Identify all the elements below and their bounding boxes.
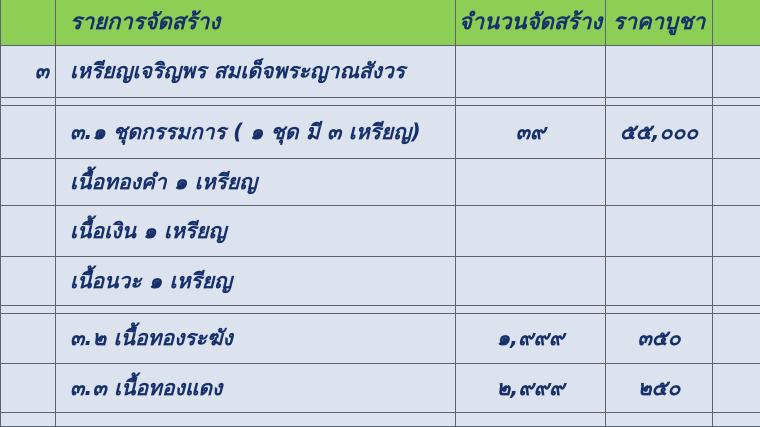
cell-no	[1, 257, 56, 306]
cell-price	[606, 257, 713, 306]
cell-quantity	[456, 98, 606, 106]
table-row: ๓.๒ เนื้อทองระฆัง ๑,๙๙๙ ๓๕๐	[1, 314, 760, 364]
cell-price	[606, 413, 713, 427]
cell-extra	[713, 159, 760, 206]
cell-quantity: ๓๙	[456, 106, 606, 159]
cell-extra	[713, 257, 760, 306]
cell-item: เนื้อทองคำ ๑ เหรียญ	[56, 159, 456, 206]
cell-quantity	[456, 46, 606, 98]
cell-extra	[713, 46, 760, 98]
cell-quantity	[456, 306, 606, 314]
cell-item: ๓.๑ ชุดกรรมการ ( ๑ ชุด มี ๓ เหรียญ)	[56, 106, 456, 159]
cell-no-text: ๓	[1, 59, 55, 83]
coin-production-price-table: รายการจัดสร้าง จำนวนจัดสร้าง ราคาบูชา ๓	[0, 0, 760, 427]
cell-price	[606, 206, 713, 257]
cell-quantity	[456, 159, 606, 206]
column-header-no	[1, 0, 56, 46]
column-header-extra	[713, 0, 760, 46]
table-row: เนื้อเงิน ๑ เหรียญ	[1, 206, 760, 257]
table-row: ๓.๓ เนื้อทองแดง ๒,๙๙๙ ๒๕๐	[1, 364, 760, 413]
table-row: ๓.๑ ชุดกรรมการ ( ๑ ชุด มี ๓ เหรียญ) ๓๙ ๕…	[1, 106, 760, 159]
cell-price	[606, 306, 713, 314]
table-row: ๓ เหรียญเจริญพร สมเด็จพระญาณสังวร	[1, 46, 760, 98]
table-row: เนื้อนวะ ๑ เหรียญ	[1, 257, 760, 306]
cell-item-text: เหรียญเจริญพร สมเด็จพระญาณสังวร	[56, 59, 455, 83]
column-header-item-label: รายการจัดสร้าง	[56, 0, 455, 45]
cell-item-text: เนื้อเงิน ๑ เหรียญ	[56, 219, 455, 243]
cell-extra	[713, 106, 760, 159]
price-table-sheet: รายการจัดสร้าง จำนวนจัดสร้าง ราคาบูชา ๓	[0, 0, 760, 423]
table-header: รายการจัดสร้าง จำนวนจัดสร้าง ราคาบูชา	[1, 0, 760, 46]
column-header-price-label: ราคาบูชา	[606, 0, 712, 45]
cell-price-text: ๒๕๐	[606, 376, 712, 400]
cell-price	[606, 46, 713, 98]
table-row	[1, 413, 760, 427]
cell-item-text: ๓.๓ เนื้อทองแดง	[56, 376, 455, 400]
cell-no	[1, 314, 56, 364]
cell-price-text: ๓๕๐	[606, 326, 712, 350]
cell-quantity	[456, 206, 606, 257]
cell-extra	[713, 306, 760, 314]
cell-item	[56, 98, 456, 106]
cell-no	[1, 206, 56, 257]
column-header-quantity: จำนวนจัดสร้าง	[456, 0, 606, 46]
column-header-item: รายการจัดสร้าง	[56, 0, 456, 46]
cell-item-text: ๓.๒ เนื้อทองระฆัง	[56, 326, 455, 350]
column-header-price: ราคาบูชา	[606, 0, 713, 46]
cell-quantity-text: ๒,๙๙๙	[456, 376, 605, 400]
cell-price: ๒๕๐	[606, 364, 713, 413]
table-header-row: รายการจัดสร้าง จำนวนจัดสร้าง ราคาบูชา	[1, 0, 760, 46]
cell-no	[1, 106, 56, 159]
cell-extra	[713, 413, 760, 427]
cell-no	[1, 306, 56, 314]
cell-no	[1, 98, 56, 106]
cell-price	[606, 159, 713, 206]
cell-item: เนื้อเงิน ๑ เหรียญ	[56, 206, 456, 257]
table-row-spacer	[1, 306, 760, 314]
cell-no	[1, 159, 56, 206]
cell-extra	[713, 206, 760, 257]
cell-quantity	[456, 413, 606, 427]
cell-item: ๓.๒ เนื้อทองระฆัง	[56, 314, 456, 364]
cell-price-text: ๕๕,๐๐๐	[606, 120, 712, 144]
cell-item	[56, 306, 456, 314]
cell-quantity: ๑,๙๙๙	[456, 314, 606, 364]
cell-price	[606, 98, 713, 106]
column-header-quantity-label: จำนวนจัดสร้าง	[456, 0, 605, 45]
cell-item	[56, 413, 456, 427]
cell-item: เหรียญเจริญพร สมเด็จพระญาณสังวร	[56, 46, 456, 98]
cell-item-text: เนื้อนวะ ๑ เหรียญ	[56, 269, 455, 293]
cell-no	[1, 413, 56, 427]
cell-quantity: ๒,๙๙๙	[456, 364, 606, 413]
cell-extra	[713, 98, 760, 106]
cell-quantity-text: ๓๙	[456, 120, 605, 144]
cell-no	[1, 364, 56, 413]
table-row-spacer	[1, 98, 760, 106]
cell-price: ๕๕,๐๐๐	[606, 106, 713, 159]
cell-extra	[713, 364, 760, 413]
cell-item: ๓.๓ เนื้อทองแดง	[56, 364, 456, 413]
table-body: ๓ เหรียญเจริญพร สมเด็จพระญาณสังวร	[1, 46, 760, 427]
table-row: เนื้อทองคำ ๑ เหรียญ	[1, 159, 760, 206]
cell-quantity-text: ๑,๙๙๙	[456, 326, 605, 350]
cell-quantity	[456, 257, 606, 306]
cell-extra	[713, 314, 760, 364]
cell-price: ๓๕๐	[606, 314, 713, 364]
cell-item: เนื้อนวะ ๑ เหรียญ	[56, 257, 456, 306]
cell-no: ๓	[1, 46, 56, 98]
cell-item-text: เนื้อทองคำ ๑ เหรียญ	[56, 170, 455, 194]
cell-item-text: ๓.๑ ชุดกรรมการ ( ๑ ชุด มี ๓ เหรียญ)	[56, 120, 455, 144]
